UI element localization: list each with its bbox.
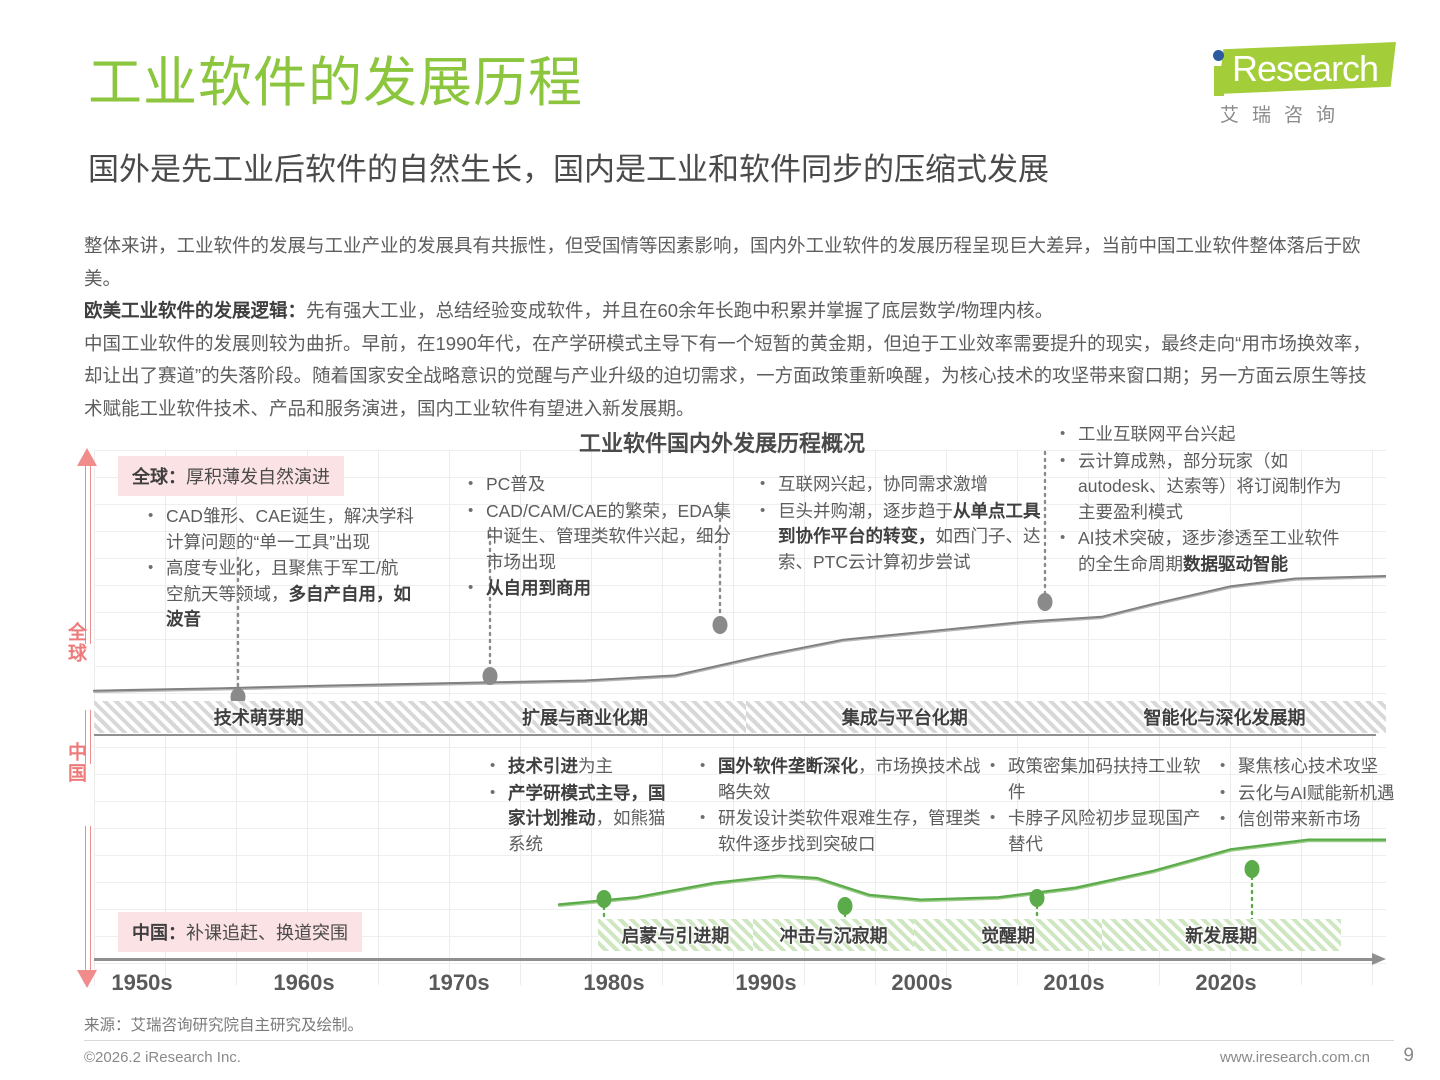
note-item: 国外软件垄断深化，市场换技术战略失效: [696, 754, 991, 805]
note-list: 国外软件垄断深化，市场换技术战略失效研发设计类软件艰难生存，管理类软件逐步找到突…: [696, 754, 991, 857]
note-item: CAD雏形、CAE诞生，解决学科计算问题的“单一工具”出现: [144, 504, 414, 555]
china-phase-觉醒期: 觉醒期: [914, 919, 1101, 951]
page-title: 工业软件的发展历程: [88, 52, 583, 114]
note-item: 互联网兴起，协同需求激增: [756, 472, 1046, 498]
china-note-c2: 国外软件垄断深化，市场换技术战略失效研发设计类软件艰难生存，管理类软件逐步找到突…: [696, 754, 991, 858]
paragraph-1: 整体来讲，工业软件的发展与工业产业的发展具有共振性，但受国情等因素影响，国内外工…: [84, 230, 1384, 295]
slide-page: 工业软件的发展历程 国外是先工业后软件的自然生长，国内是工业和软件同步的压缩式发…: [0, 0, 1440, 1080]
chart-title: 工业软件国内外发展历程概况: [452, 426, 992, 458]
footer-divider: [84, 1040, 1394, 1041]
logo-wordmark: Research: [1232, 48, 1378, 90]
note-text: 数据驱动智能: [1183, 554, 1288, 574]
band-label: 扩展与商业化期: [518, 704, 652, 730]
paragraph-2-lead: 欧美工业软件的发展逻辑：: [84, 300, 306, 321]
global-phase-扩展与商业化期: 扩展与商业化期: [423, 701, 746, 733]
note-text: 云计算成熟，部分玩家（如autodesk、达索等）将订阅制作为主要盈利模式: [1078, 451, 1342, 522]
page-number: 9: [1403, 1045, 1414, 1067]
note-list: 互联网兴起，协同需求激增巨头并购潮，逐步趋于从单点工具到协作平台的转变，如西门子…: [756, 472, 1046, 575]
global-phase-技术萌芽期: 技术萌芽期: [94, 701, 423, 733]
horizontal-axis-line: [94, 958, 1372, 961]
note-item: 卡脖子风险初步显现国产替代: [986, 806, 1211, 857]
axis-label-china: 中国: [62, 742, 89, 784]
page-subtitle: 国外是先工业后软件的自然生长，国内是工业和软件同步的压缩式发展: [88, 150, 1049, 190]
logo-i-stem: [1214, 66, 1224, 96]
timeline-chart: 工业软件国内外发展历程概况 全球 中国 技术萌芽期扩展与商业化期集成与平台化期智…: [56, 424, 1386, 1014]
copyright: ©2026.2 iResearch Inc.: [84, 1049, 241, 1066]
decade-tick-1950s: 1950s: [111, 970, 172, 996]
global-phase-集成与平台化期: 集成与平台化期: [746, 701, 1063, 733]
global-note-g4: 工业互联网平台兴起云计算成熟，部分玩家（如autodesk、达索等）将订阅制作为…: [1056, 422, 1356, 578]
note-item: 研发设计类软件艰难生存，管理类软件逐步找到突破口: [696, 806, 991, 857]
decade-tick-2000s: 2000s: [891, 970, 952, 996]
note-text: 工业互联网平台兴起: [1078, 424, 1236, 444]
band-label: 集成与平台化期: [838, 704, 972, 730]
note-item: 巨头并购潮，逐步趋于从单点工具到协作平台的转变，如西门子、达索、PTC云计算初步…: [756, 499, 1046, 576]
paragraph-2-rest: 先有强大工业，总结经验变成软件，并且在60余年长跑中积累并掌握了底层数学/物理内…: [306, 300, 1053, 321]
note-text: 国外软件垄断深化: [718, 756, 858, 776]
axis-label-global: 全球: [62, 622, 89, 664]
note-text: 信创带来新市场: [1238, 809, 1361, 829]
global-section-divider: [94, 734, 1376, 736]
paragraph-3: 中国工业软件的发展则较为曲折。早前，在1990年代，在产学研模式主导下有一个短暂…: [84, 328, 1384, 426]
china-note-c3: 政策密集加码扶持工业软件卡脖子风险初步显现国产替代: [986, 754, 1211, 858]
note-text: 聚焦核心技术攻坚: [1238, 756, 1378, 776]
legend-chip-china: 中国：补课追赶、换道突围: [118, 912, 362, 952]
note-list: 聚焦核心技术攻坚云化与AI赋能新机遇信创带来新市场: [1216, 754, 1416, 833]
horizontal-axis: [94, 953, 1386, 965]
china-phase-冲击与沉寂期: 冲击与沉寂期: [753, 919, 915, 951]
global-note-g2: PC普及CAD/CAM/CAE的繁荣，EDA集中诞生、管理类软件兴起，细分市场出…: [464, 472, 734, 603]
note-text: PC普及: [486, 474, 545, 494]
band-label: 启蒙与引进期: [617, 922, 733, 948]
axis-bar: [85, 462, 91, 974]
note-item: 工业互联网平台兴起: [1056, 422, 1356, 448]
logo-chinese-name: 艾瑞咨询: [1220, 100, 1348, 127]
note-list: 政策密集加码扶持工业软件卡脖子风险初步显现国产替代: [986, 754, 1211, 857]
note-item: 信创带来新市场: [1216, 807, 1416, 833]
note-list: 技术引进为主产学研模式主导，国家计划推动，如熊猫系统: [486, 754, 666, 857]
decade-tick-1980s: 1980s: [583, 970, 644, 996]
note-text: CAD/CAM/CAE的繁荣，EDA集中诞生、管理类软件兴起，细分市场出现: [486, 501, 731, 572]
note-text: 政策密集加码扶持工业软件: [1008, 756, 1201, 802]
legend-chip-china-text: 补课追赶、换道突围: [186, 923, 348, 943]
source-note: 来源：艾瑞咨询研究院自主研究及绘制。: [84, 1013, 363, 1035]
global-note-g1: CAD雏形、CAE诞生，解决学科计算问题的“单一工具”出现高度专业化，且聚焦于军…: [144, 504, 414, 634]
decade-tick-2020s: 2020s: [1195, 970, 1256, 996]
note-text: 为主: [578, 756, 613, 776]
decade-tick-1970s: 1970s: [428, 970, 489, 996]
china-note-c1: 技术引进为主产学研模式主导，国家计划推动，如熊猫系统: [486, 754, 666, 858]
iresearch-logo: Research 艾瑞咨询: [1196, 38, 1396, 134]
note-item: 政策密集加码扶持工业软件: [986, 754, 1211, 805]
intro-paragraphs: 整体来讲，工业软件的发展与工业产业的发展具有共振性，但受国情等因素影响，国内外工…: [84, 230, 1384, 425]
note-list: PC普及CAD/CAM/CAE的繁荣，EDA集中诞生、管理类软件兴起，细分市场出…: [464, 472, 734, 602]
note-item: 从自用到商用: [464, 576, 734, 602]
note-list: 工业互联网平台兴起云计算成熟，部分玩家（如autodesk、达索等）将订阅制作为…: [1056, 422, 1356, 577]
decade-tick-2010s: 2010s: [1043, 970, 1104, 996]
legend-chip-global-text: 厚积薄发自然演进: [186, 467, 330, 487]
note-item: 云计算成熟，部分玩家（如autodesk、达索等）将订阅制作为主要盈利模式: [1056, 449, 1356, 526]
note-text: 互联网兴起，协同需求激增: [778, 474, 988, 494]
note-item: 技术引进为主: [486, 754, 666, 780]
note-text: 研发设计类软件艰难生存，管理类软件逐步找到突破口: [718, 808, 981, 854]
note-text: 技术引进: [508, 756, 578, 776]
note-text: 云化与AI赋能新机遇: [1238, 783, 1395, 803]
note-list: CAD雏形、CAE诞生，解决学科计算问题的“单一工具”出现高度专业化，且聚焦于军…: [144, 504, 414, 633]
logo-i-dot-icon: [1213, 50, 1224, 61]
paragraph-2: 欧美工业软件的发展逻辑：先有强大工业，总结经验变成软件，并且在60余年长跑中积累…: [84, 295, 1384, 328]
note-item: AI技术突破，逐步渗透至工业软件的全生命周期数据驱动智能: [1056, 526, 1356, 577]
legend-chip-china-key: 中国：: [132, 923, 186, 943]
band-label: 新发展期: [1181, 922, 1261, 948]
china-phase-新发展期: 新发展期: [1102, 919, 1341, 951]
note-text: 巨头并购潮，逐步趋于: [778, 501, 953, 521]
note-item: 产学研模式主导，国家计划推动，如熊猫系统: [486, 781, 666, 858]
note-item: 聚焦核心技术攻坚: [1216, 754, 1416, 780]
band-label: 技术萌芽期: [210, 704, 308, 730]
band-label: 智能化与深化发展期: [1140, 704, 1310, 730]
note-item: CAD/CAM/CAE的繁荣，EDA集中诞生、管理类软件兴起，细分市场出现: [464, 499, 734, 576]
note-text: 卡脖子风险初步显现国产替代: [1008, 808, 1201, 854]
band-label: 冲击与沉寂期: [776, 922, 892, 948]
legend-chip-global-key: 全球：: [132, 467, 186, 487]
note-text: CAD雏形、CAE诞生，解决学科计算问题的“单一工具”出现: [166, 506, 414, 552]
note-item: 高度专业化，且聚焦于军工/航空航天等领域，多自产自用，如波音: [144, 556, 414, 633]
decade-tick-1960s: 1960s: [273, 970, 334, 996]
note-item: PC普及: [464, 472, 734, 498]
global-phase-智能化与深化发展期: 智能化与深化发展期: [1063, 701, 1386, 733]
legend-chip-global: 全球：厚积薄发自然演进: [118, 456, 344, 496]
band-label: 觉醒期: [977, 922, 1039, 948]
decade-tick-labels: 1950s1960s1970s1980s1990s2000s2010s2020s: [94, 970, 1386, 1004]
decade-tick-1990s: 1990s: [735, 970, 796, 996]
note-item: 云化与AI赋能新机遇: [1216, 781, 1416, 807]
horizontal-axis-arrow-icon: [1372, 953, 1386, 965]
website-url: www.iresearch.com.cn: [1220, 1049, 1370, 1066]
note-text: 从自用到商用: [486, 578, 591, 598]
global-note-g3: 互联网兴起，协同需求激增巨头并购潮，逐步趋于从单点工具到协作平台的转变，如西门子…: [756, 472, 1046, 576]
china-phase-启蒙与引进期: 启蒙与引进期: [598, 919, 753, 951]
china-note-c4: 聚焦核心技术攻坚云化与AI赋能新机遇信创带来新市场: [1216, 754, 1416, 834]
